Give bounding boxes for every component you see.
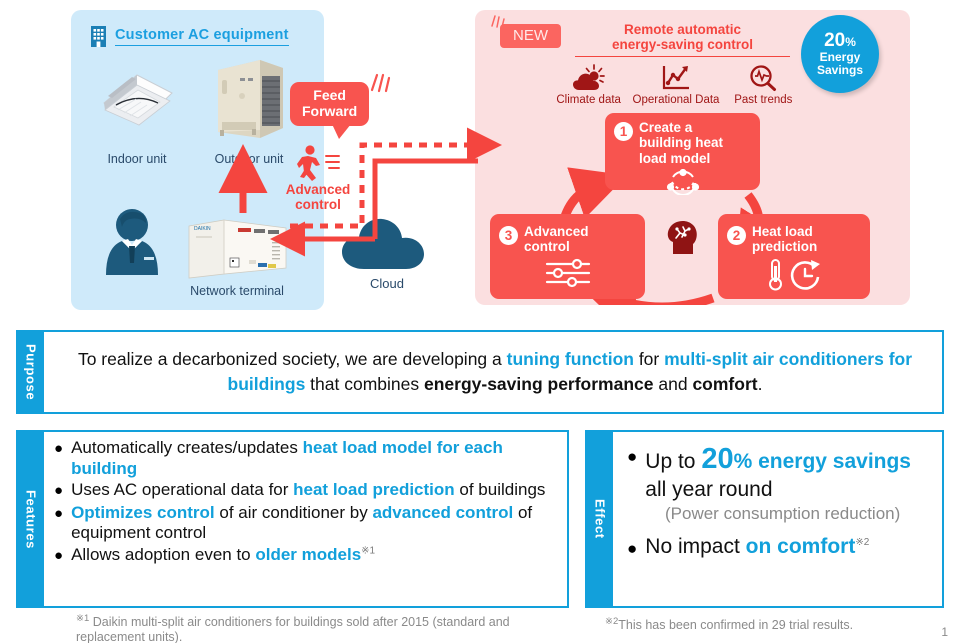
feature-part: older models [255, 545, 361, 564]
purpose-part: . [758, 374, 763, 394]
step-1-number: 1 [614, 122, 633, 141]
effect-part: Up to [645, 450, 701, 473]
energy-savings-badge: 20% Energy Savings [801, 15, 879, 93]
feature-part: heat load prediction [293, 480, 455, 499]
feature-part: of air conditioner by [215, 503, 373, 522]
building-icon [89, 24, 108, 48]
outdoor-ac-unit-image [210, 56, 288, 142]
step-2-head: 2 Heat loadprediction [718, 214, 870, 255]
effect-label-text: Effect [593, 499, 608, 539]
new-badge: NEW [500, 24, 561, 48]
savings-line-2: Savings [817, 64, 863, 77]
footnote-2-text: This has been confirmed in 29 trial resu… [618, 618, 853, 632]
indoor-ac-unit-image [92, 63, 182, 133]
effect-footnote-mark: ※2 [855, 537, 869, 548]
page-number: 1 [941, 625, 948, 639]
caption-network-terminal: Network terminal [172, 284, 302, 298]
step-3-head: 3 Advancedcontrol [490, 214, 645, 255]
bullet-dot: ● [54, 481, 63, 501]
features-side-label: Features [18, 432, 44, 606]
footnote-1-mark: ※1 [76, 613, 89, 624]
footnote-2: ※2This has been confirmed in 29 trial re… [605, 616, 935, 633]
savings-value: 20% [824, 31, 856, 50]
list-item: ● Up to 20% energy savings all year roun… [627, 442, 936, 502]
effect-side-label: Effect [587, 432, 613, 606]
features-label-text: Features [24, 490, 39, 549]
bullet-dot: ● [54, 504, 63, 524]
advanced-control-label: Advanced control [272, 182, 364, 212]
thermometer-clock-icon [718, 258, 870, 292]
caption-outdoor-unit: Outdoor unit [202, 152, 296, 166]
footnote-2-mark: ※2 [605, 616, 618, 627]
bullet-dot: ● [54, 546, 63, 566]
feature-text: Uses AC operational data for heat load p… [71, 480, 545, 501]
step-3-number: 3 [499, 226, 518, 245]
advanced-control-line-2: control [272, 197, 364, 212]
step-3-text: Advancedcontrol [524, 224, 589, 255]
effect-part: all year round [645, 478, 772, 501]
bullet-dot: ● [627, 538, 637, 561]
sparkle-icon [368, 72, 392, 94]
step-1-head: 1 Create abuilding heatload model [605, 113, 760, 166]
network-nodes-icon [605, 169, 760, 195]
list-item: ● Allows adoption even to older models※1 [54, 545, 561, 566]
network-terminal-image: DAIKIN [186, 216, 291, 282]
effect-sub-note: (Power consumption reduction) [665, 504, 936, 524]
cloud-icon [340, 213, 434, 273]
effect-part: % energy savings [734, 450, 911, 473]
purpose-part: and [654, 374, 693, 394]
purpose-part: that combines [305, 374, 424, 394]
step-1-text: Create abuilding heatload model [639, 120, 723, 166]
effect-list: ● Up to 20% energy savings all year roun… [627, 442, 936, 562]
step-2-box: 2 Heat loadprediction [718, 214, 870, 299]
bullet-dot: ● [627, 446, 637, 469]
caption-indoor-unit: Indoor unit [92, 152, 182, 166]
feature-text: Optimizes control of air conditioner by … [71, 503, 561, 544]
purpose-part: energy-saving performance [424, 374, 654, 394]
panel-title: Customer AC equipment [115, 27, 289, 46]
purpose-part: comfort [692, 374, 757, 394]
feature-footnote-mark: ※1 [361, 546, 375, 557]
step-2-text: Heat loadprediction [752, 224, 817, 255]
panel-title-row: Customer AC equipment [89, 24, 289, 48]
sliders-icon [490, 258, 645, 290]
step-3-box: 3 Advancedcontrol [490, 214, 645, 299]
list-item: ● Automatically creates/updates heat loa… [54, 438, 561, 479]
effect-part: on comfort [746, 535, 856, 558]
advanced-control-line-1: Advanced [272, 182, 364, 197]
effect-part: No impact [645, 535, 745, 558]
effect-section: Effect ● Up to 20% energy savings all ye… [585, 430, 944, 608]
callout-line-1: Feed [302, 88, 357, 104]
purpose-section: Purpose To realize a decarbonized societ… [16, 330, 944, 414]
purpose-label-text: Purpose [24, 344, 39, 400]
savings-number: 20 [824, 30, 845, 51]
bullet-dot: ● [54, 439, 63, 459]
list-item: ● Optimizes control of air conditioner b… [54, 503, 561, 544]
feature-text: Automatically creates/updates heat load … [71, 438, 561, 479]
purpose-part: tuning function [507, 349, 634, 369]
purpose-text: To realize a decarbonized society, we ar… [56, 332, 934, 412]
callout-line-2: Forward [302, 104, 357, 120]
feature-part: advanced control [372, 503, 513, 522]
person-avatar-icon [100, 205, 164, 277]
slide-root: Customer AC equipment [0, 0, 960, 643]
features-list: ● Automatically creates/updates heat loa… [54, 438, 561, 567]
feed-forward-callout: Feed Forward [290, 82, 369, 126]
purpose-part: for [634, 349, 664, 369]
feature-part: Uses AC operational data for [71, 480, 293, 499]
list-item: ● No impact on comfort※2 [627, 534, 936, 561]
system-diagram: Customer AC equipment [0, 0, 960, 320]
purpose-side-label: Purpose [18, 332, 44, 412]
svg-text:DAIKIN: DAIKIN [194, 226, 211, 232]
feature-part: Optimizes control [71, 503, 215, 522]
ai-brain-head-icon [663, 216, 703, 256]
feature-text: Allows adoption even to older models※1 [71, 545, 375, 566]
purpose-part: To realize a decarbonized society, we ar… [78, 349, 507, 369]
features-section: Features ● Automatically creates/updates… [16, 430, 569, 608]
savings-unit: % [845, 35, 856, 49]
cloud-label: Cloud [340, 276, 434, 291]
feature-part: Allows adoption even to [71, 545, 255, 564]
footnote-1-text: Daikin multi-split air conditioners for … [76, 615, 510, 643]
feature-part: Automatically creates/updates [71, 438, 303, 457]
feature-part: of buildings [455, 480, 546, 499]
effect-big-number: 20 [701, 443, 733, 475]
effect-text: Up to 20% energy savings all year round [645, 442, 936, 502]
footnote-1: ※1 Daikin multi-split air conditioners f… [76, 613, 546, 643]
step-2-number: 2 [727, 226, 746, 245]
running-person-icon [296, 144, 342, 184]
list-item: ● Uses AC operational data for heat load… [54, 480, 561, 501]
effect-text: No impact on comfort※2 [645, 534, 869, 559]
step-1-box: 1 Create abuilding heatload model [605, 113, 760, 190]
